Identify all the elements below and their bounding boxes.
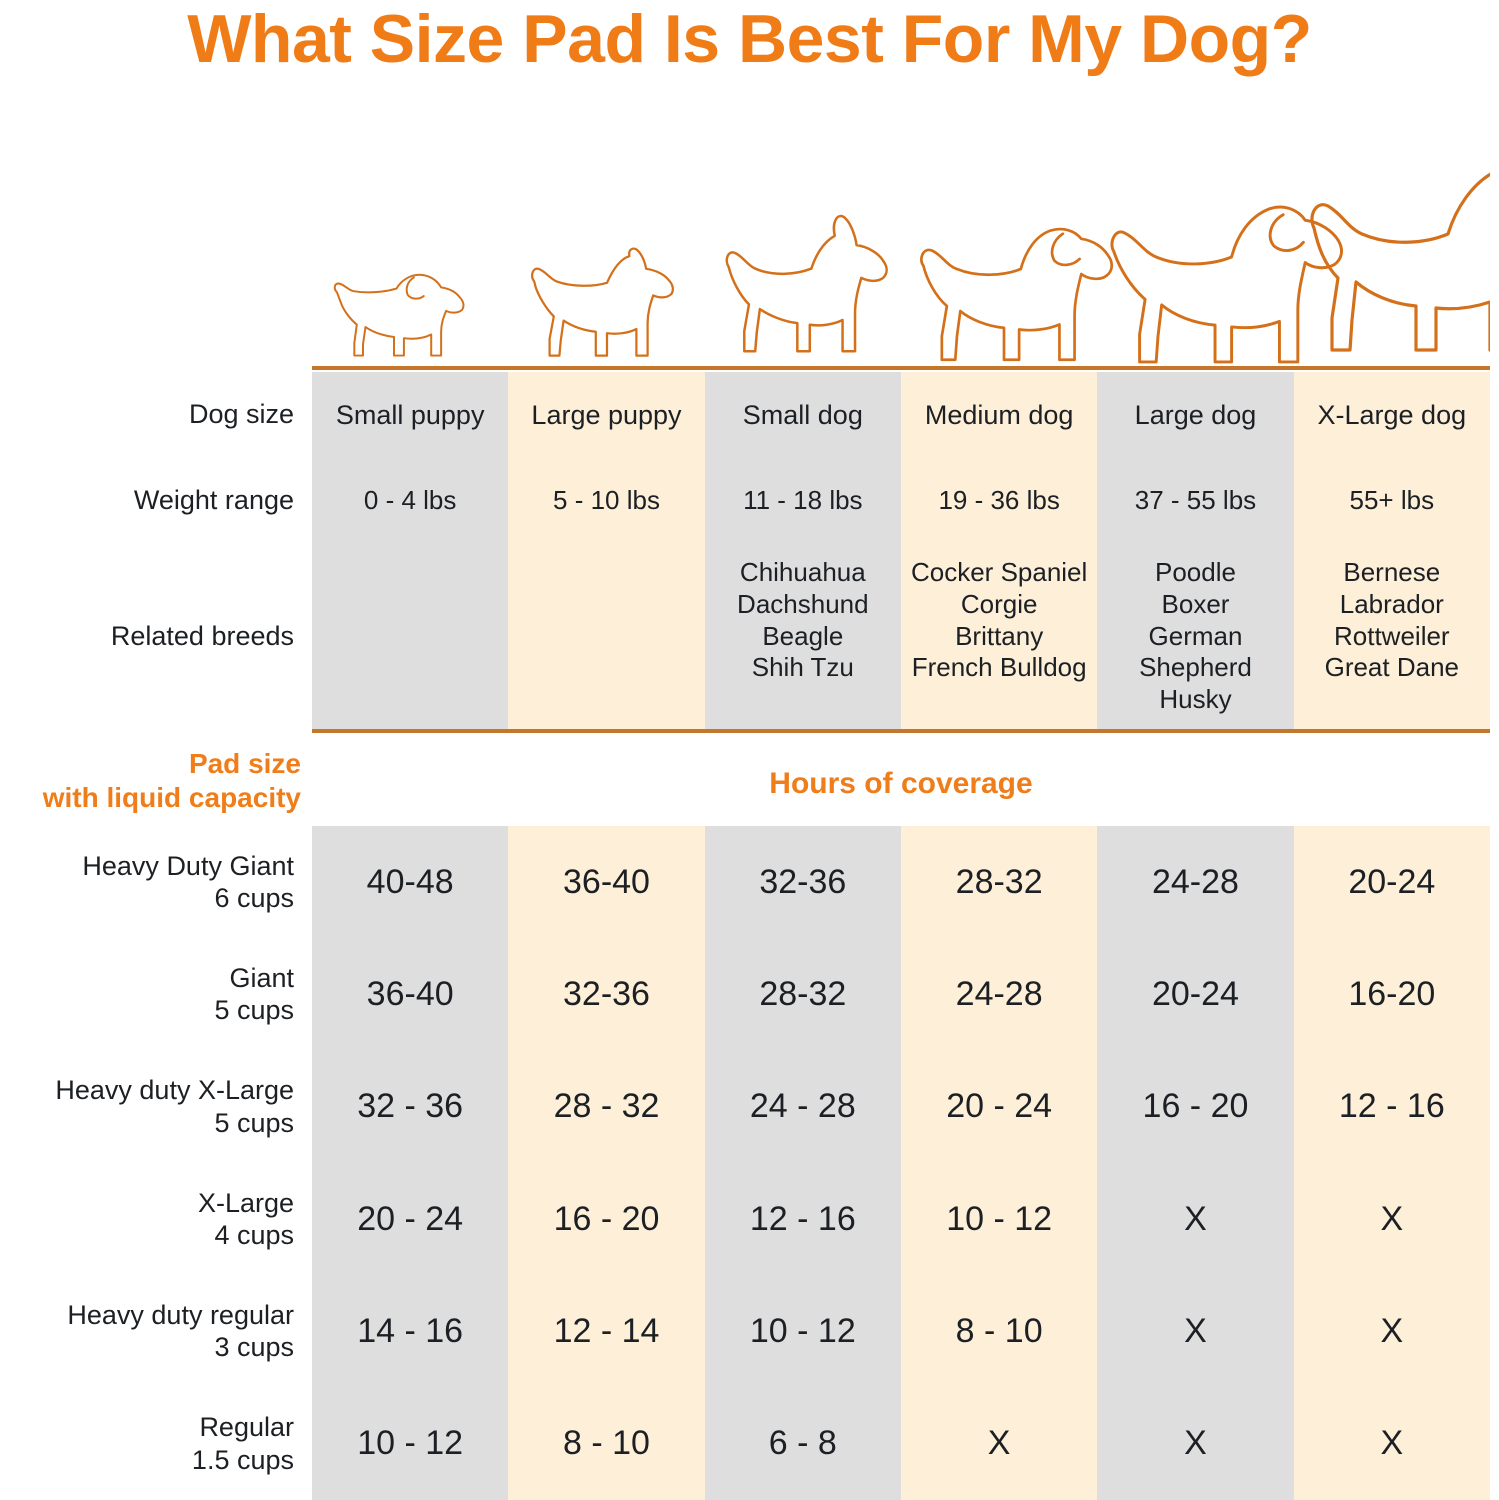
pad-size-capacity: 3 cups (0, 1331, 294, 1363)
coverage-cell: 10 - 12 (901, 1199, 1097, 1240)
weight-range-cell-4: 19 - 36 lbs (901, 485, 1097, 516)
coverage-values: 36-40 32-36 28-32 24-28 20-24 16-20 (312, 974, 1490, 1015)
coverage-cell: 20 - 24 (901, 1086, 1097, 1127)
table-row: Heavy duty X-Large 5 cups 32 - 36 28 - 3… (0, 1051, 1499, 1163)
breed-name: Shih Tzu (705, 652, 901, 684)
coverage-cell: 12 - 14 (508, 1311, 704, 1352)
breed-name: Cocker Spaniel (901, 557, 1097, 589)
dog-size-cell-6: X-Large dog (1294, 399, 1490, 431)
coverage-cell: 8 - 10 (508, 1423, 704, 1464)
coverage-cell: 6 - 8 (705, 1423, 901, 1464)
breed-name: Rottweiler (1294, 621, 1490, 653)
breed-name: German (1097, 621, 1293, 653)
coverage-cell: 32 - 36 (312, 1086, 508, 1127)
medium-dog-icon (921, 229, 1111, 360)
pad-size-label: Heavy Duty Giant 6 cups (0, 850, 312, 915)
coverage-cell: 24-28 (901, 974, 1097, 1015)
coverage-values: 40-48 36-40 32-36 28-32 24-28 20-24 (312, 862, 1490, 903)
coverage-values: 20 - 24 16 - 20 12 - 16 10 - 12 X X (312, 1199, 1490, 1240)
weight-range-cell-1: 0 - 4 lbs (312, 485, 508, 516)
coverage-cell: 24 - 28 (705, 1086, 901, 1127)
section-divider-rule (312, 729, 1490, 733)
coverage-values: 10 - 12 8 - 10 6 - 8 X X X (312, 1423, 1490, 1464)
related-breeds-cell-1 (312, 557, 508, 716)
table-row: Giant 5 cups 36-40 32-36 28-32 24-28 20-… (0, 938, 1499, 1050)
table-row: Heavy Duty Giant 6 cups 40-48 36-40 32-3… (0, 826, 1499, 938)
coverage-cell: 28 - 32 (508, 1086, 704, 1127)
pad-size-name: Heavy duty regular (0, 1299, 294, 1331)
coverage-cell: X (1294, 1311, 1490, 1352)
related-breeds-cell-4: Cocker Spaniel Corgie Brittany French Bu… (901, 557, 1097, 716)
coverage-cell: 14 - 16 (312, 1311, 508, 1352)
related-breeds-cell-3: Chihuahua Dachshund Beagle Shih Tzu (705, 557, 901, 716)
row-label-weight-range: Weight range (0, 485, 312, 517)
breed-name: Husky (1097, 684, 1293, 716)
coverage-cell: 32-36 (508, 974, 704, 1015)
dog-size-cell-4: Medium dog (901, 399, 1097, 431)
coverage-values: 32 - 36 28 - 32 24 - 28 20 - 24 16 - 20 … (312, 1086, 1490, 1127)
coverage-cell: 28-32 (705, 974, 901, 1015)
dog-size-cell-2: Large puppy (508, 399, 704, 431)
pad-size-name: Regular (0, 1411, 294, 1443)
coverage-cell: X (1097, 1423, 1293, 1464)
related-breeds-cell-6: Bernese Labrador Rottweiler Great Dane (1294, 557, 1490, 716)
table-row: Regular 1.5 cups 10 - 12 8 - 10 6 - 8 X … (0, 1387, 1499, 1499)
breed-name: Chihuahua (705, 557, 901, 589)
coverage-cell: X (1097, 1311, 1293, 1352)
large-puppy-dog-icon (532, 249, 673, 356)
table-row-related-breeds: Related breeds Chihuahua Dachshund Beagl… (0, 544, 1499, 729)
coverage-cell: 12 - 16 (1294, 1086, 1490, 1127)
coverage-cell: 28-32 (901, 862, 1097, 903)
breed-name: Poodle (1097, 557, 1293, 589)
coverage-cell: 16 - 20 (508, 1199, 704, 1240)
coverage-cell: X (1294, 1423, 1490, 1464)
coverage-cell: 24-28 (1097, 862, 1293, 903)
x-large-dog-icon (1312, 150, 1490, 350)
coverage-cell: 8 - 10 (901, 1311, 1097, 1352)
row-label-related-breeds: Related breeds (0, 621, 312, 653)
coverage-cell: X (1097, 1199, 1293, 1240)
related-breeds-cell-5: Poodle Boxer German Shepherd Husky (1097, 557, 1293, 716)
pad-size-label: Giant 5 cups (0, 962, 312, 1027)
table-row: Heavy duty regular 3 cups 14 - 16 12 - 1… (0, 1275, 1499, 1387)
weight-range-cell-5: 37 - 55 lbs (1097, 485, 1293, 516)
coverage-cell: 10 - 12 (312, 1423, 508, 1464)
coverage-cell: 36-40 (508, 862, 704, 903)
related-breeds-values: Chihuahua Dachshund Beagle Shih Tzu Cock… (312, 557, 1490, 716)
breed-name: Great Dane (1294, 652, 1490, 684)
small-dog-icon (727, 216, 887, 351)
breed-name: Bernese (1294, 557, 1490, 589)
weight-range-cell-3: 11 - 18 lbs (705, 485, 901, 516)
weight-range-cell-6: 55+ lbs (1294, 485, 1490, 516)
dog-size-cell-3: Small dog (705, 399, 901, 431)
pad-size-heading-line1: Pad size (1, 747, 301, 781)
coverage-cell: 10 - 12 (705, 1311, 901, 1352)
page-title: What Size Pad Is Best For My Dog? (0, 4, 1499, 75)
pad-size-label: Heavy duty X-Large 5 cups (0, 1074, 312, 1139)
pad-size-capacity: 5 cups (0, 994, 294, 1026)
table-row: X-Large 4 cups 20 - 24 16 - 20 12 - 16 1… (0, 1163, 1499, 1275)
dog-size-illustration (312, 150, 1490, 372)
pad-size-capacity: 5 cups (0, 1107, 294, 1139)
coverage-cell: 20 - 24 (312, 1199, 508, 1240)
pad-size-name: Heavy Duty Giant (0, 850, 294, 882)
coverage-values: 14 - 16 12 - 14 10 - 12 8 - 10 X X (312, 1311, 1490, 1352)
breed-name: Dachshund (705, 589, 901, 621)
section-heading-band: Pad size with liquid capacity Hours of c… (0, 745, 1499, 823)
coverage-cell: 20-24 (1097, 974, 1293, 1015)
dog-size-cell-5: Large dog (1097, 399, 1293, 431)
pad-size-name: X-Large (0, 1187, 294, 1219)
pad-size-name: Giant (0, 962, 294, 994)
hours-of-coverage-heading: Hours of coverage (312, 767, 1490, 801)
related-breeds-cell-2 (508, 557, 704, 716)
coverage-cell: 16 - 20 (1097, 1086, 1293, 1127)
pad-size-heading: Pad size with liquid capacity (1, 747, 301, 815)
coverage-hours-table: Heavy Duty Giant 6 cups 40-48 36-40 32-3… (0, 826, 1499, 1500)
coverage-cell: 16-20 (1294, 974, 1490, 1015)
table-row-dog-size: Dog size Small puppy Large puppy Small d… (0, 372, 1499, 458)
breed-name: Beagle (705, 621, 901, 653)
coverage-cell: 32-36 (705, 862, 901, 903)
coverage-cell: 12 - 16 (705, 1199, 901, 1240)
pad-size-label: X-Large 4 cups (0, 1187, 312, 1252)
dog-size-cell-1: Small puppy (312, 399, 508, 431)
pad-size-label: Regular 1.5 cups (0, 1411, 312, 1476)
breed-name: Corgie (901, 589, 1097, 621)
breed-name: French Bulldog (901, 652, 1097, 684)
small-puppy-dog-icon (335, 275, 464, 356)
pad-size-label: Heavy duty regular 3 cups (0, 1299, 312, 1364)
dog-size-table: Dog size Small puppy Large puppy Small d… (0, 372, 1499, 729)
pad-size-capacity: 4 cups (0, 1219, 294, 1251)
breed-name: Boxer (1097, 589, 1293, 621)
pad-size-heading-line2: with liquid capacity (1, 781, 301, 815)
pad-size-capacity: 6 cups (0, 882, 294, 914)
infographic-page: What Size Pad Is Best For My Dog? (0, 0, 1499, 1500)
pad-size-name: Heavy duty X-Large (0, 1074, 294, 1106)
coverage-cell: X (901, 1423, 1097, 1464)
large-dog-icon (1112, 207, 1342, 362)
breed-name: Brittany (901, 621, 1097, 653)
row-label-dog-size: Dog size (0, 399, 312, 431)
weight-range-values: 0 - 4 lbs 5 - 10 lbs 11 - 18 lbs 19 - 36… (312, 485, 1490, 516)
coverage-cell: X (1294, 1199, 1490, 1240)
table-row-weight-range: Weight range 0 - 4 lbs 5 - 10 lbs 11 - 1… (0, 458, 1499, 544)
breed-name: Labrador (1294, 589, 1490, 621)
weight-range-cell-2: 5 - 10 lbs (508, 485, 704, 516)
breed-name: Shepherd (1097, 652, 1293, 684)
coverage-cell: 40-48 (312, 862, 508, 903)
pad-size-capacity: 1.5 cups (0, 1444, 294, 1476)
dog-size-values: Small puppy Large puppy Small dog Medium… (312, 399, 1490, 431)
coverage-cell: 20-24 (1294, 862, 1490, 903)
coverage-cell: 36-40 (312, 974, 508, 1015)
